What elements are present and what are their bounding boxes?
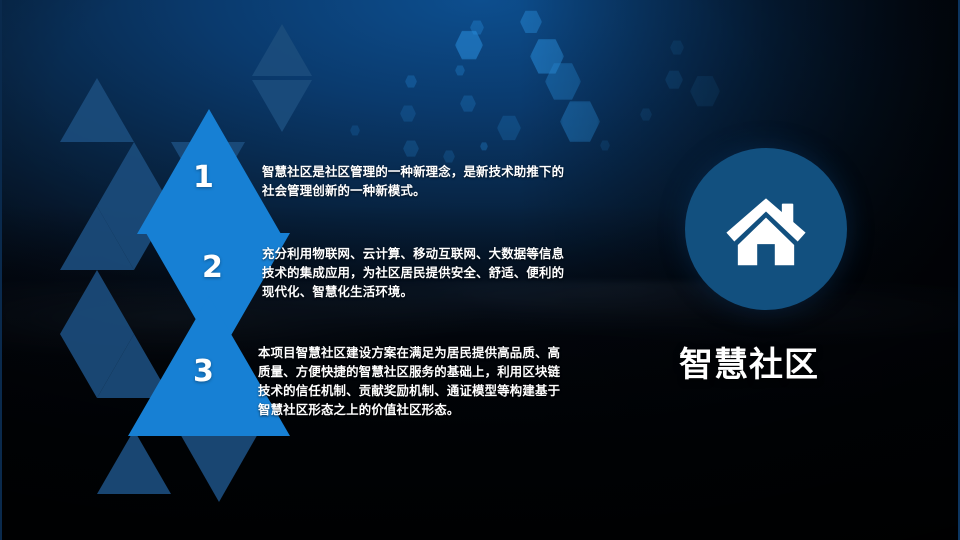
step-number-2: 2	[202, 253, 223, 283]
home-badge-circle	[685, 148, 847, 310]
badge-title: 智慧社区	[679, 348, 819, 382]
decor-triangle-dark	[60, 270, 134, 334]
step-text-2: 充分利用物联网、云计算、移动互联网、大数据等信息 技术的集成应用，为社区居民提供…	[262, 244, 642, 301]
decor-triangle-dark	[60, 78, 134, 142]
step-text-3: 本项目智慧社区建设方案在满足为居民提供高品质、高 质量、方便快捷的智慧社区服务的…	[258, 343, 648, 419]
triangle-mosaic	[0, 0, 300, 540]
step-number-3: 3	[193, 357, 214, 387]
home-icon	[722, 186, 810, 274]
step-text-1: 智慧社区是社区管理的一种新理念，是新技术助推下的 社会管理创新的一种新模式。	[262, 162, 642, 200]
decor-triangle-dark	[97, 430, 171, 494]
presentation-slide: 1 2 3 智慧社区是社区管理的一种新理念，是新技术助推下的 社会管理创新的一种…	[0, 0, 960, 540]
step-number-1: 1	[193, 163, 214, 193]
